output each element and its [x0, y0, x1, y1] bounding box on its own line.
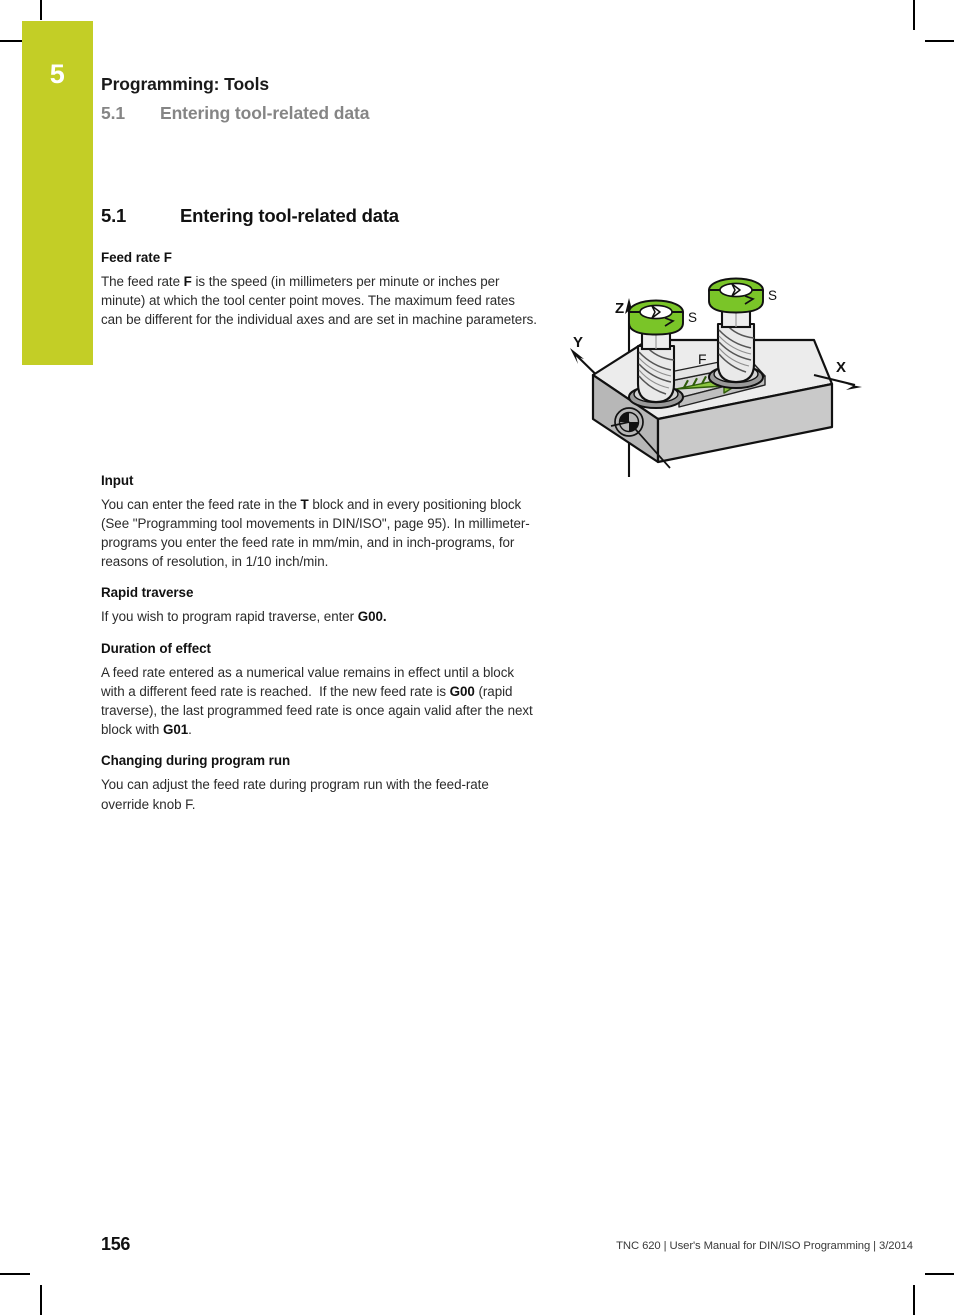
crop-mark-top-left-horizontal — [0, 40, 22, 42]
chapter-number: 5 — [22, 59, 93, 90]
spacer — [101, 571, 539, 585]
section-paragraph-changing-during-program-run: You can adjust the feed rate during prog… — [101, 775, 539, 813]
tool-right-spindle-label: S — [768, 288, 777, 303]
running-head: Programming: Tools 5.1 Entering tool-rel… — [101, 72, 801, 125]
section-paragraph-feed-rate-f: The feed rate F is the speed (in millime… — [101, 272, 539, 330]
tool-left-spindle-rotation-arrow — [629, 301, 683, 335]
page-title-text: Entering tool-related data — [180, 205, 399, 227]
crop-mark-bottom-left-vertical — [40, 1285, 42, 1315]
axis-y-label: Y — [573, 334, 583, 351]
crop-mark-bottom-right-vertical — [913, 1285, 915, 1315]
axis-x-label: X — [836, 359, 846, 376]
section-heading-feed-rate-f: Feed rate F — [101, 250, 539, 265]
crop-mark-bottom-left-horizontal — [0, 1273, 30, 1275]
running-head-section-title: Entering tool-related data — [160, 101, 369, 125]
section-heading-duration-of-effect: Duration of effect — [101, 641, 539, 656]
running-head-section: 5.1 Entering tool-related data — [101, 101, 801, 125]
spacer — [101, 739, 539, 753]
section-paragraph-input: You can enter the feed rate in the T blo… — [101, 495, 539, 572]
crop-mark-bottom-right-horizontal — [925, 1273, 954, 1275]
section-heading-changing-during-program-run: Changing during program run — [101, 753, 539, 768]
tool-left-spindle-label: S — [688, 310, 697, 325]
page-title-number: 5.1 — [101, 205, 180, 227]
running-head-chapter-title: Programming: Tools — [101, 72, 801, 96]
spacer — [101, 627, 539, 641]
figure-milling-feed-rate: Z Y — [566, 272, 866, 512]
section-paragraph-duration-of-effect: A feed rate entered as a numerical value… — [101, 663, 539, 740]
feed-label: F — [698, 351, 707, 367]
crop-mark-top-right-vertical — [913, 0, 915, 30]
body-column: Feed rate F The feed rate F is the speed… — [101, 250, 539, 814]
figure-gap-spacer — [101, 330, 539, 473]
page-number: 156 — [101, 1234, 130, 1255]
crop-mark-top-right-horizontal — [925, 40, 954, 42]
page-title: 5.1 Entering tool-related data — [101, 205, 661, 227]
footer-metadata: TNC 620 | User's Manual for DIN/ISO Prog… — [616, 1240, 913, 1252]
section-heading-input: Input — [101, 473, 539, 488]
crop-mark-top-left-vertical — [40, 0, 42, 20]
running-head-section-number: 5.1 — [101, 101, 160, 125]
tool-right-spindle-rotation-arrow — [709, 279, 763, 313]
manual-page: 5 Programming: Tools 5.1 Entering tool-r… — [0, 0, 954, 1315]
axis-z-label: Z — [615, 300, 624, 317]
section-paragraph-rapid-traverse: If you wish to program rapid traverse, e… — [101, 607, 539, 626]
section-heading-rapid-traverse: Rapid traverse — [101, 585, 539, 600]
